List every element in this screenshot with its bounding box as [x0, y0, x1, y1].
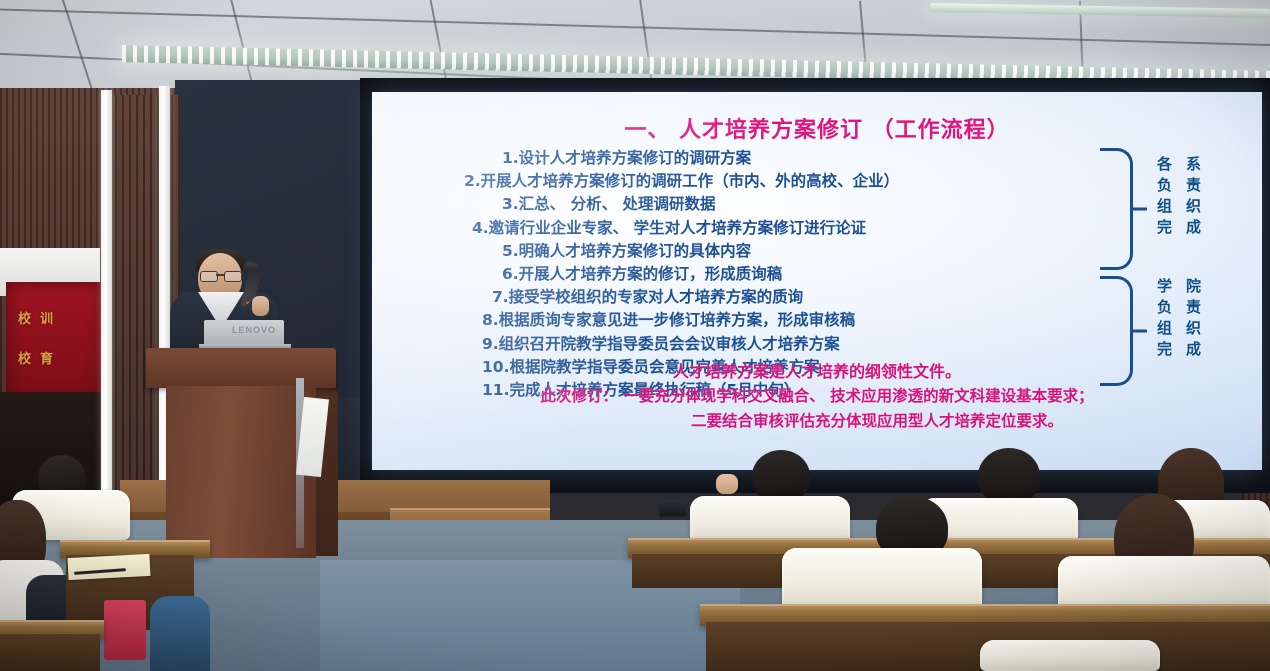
- brace-char: 院: [1179, 276, 1208, 297]
- audience-seat: [690, 496, 850, 544]
- projection-screen: 一、 人才培养方案修订 （工作流程） 1.设计人才培养方案修订的调研方案 2.开…: [372, 92, 1262, 470]
- audience-desk-front: [0, 634, 100, 671]
- notebook: [67, 554, 150, 580]
- brace-label-college: 学 院 负 责 组 织 完 成: [1150, 276, 1208, 360]
- list-item: 5.明确人才培养方案修订的具体内容: [460, 240, 1140, 263]
- brace-char: 织: [1179, 318, 1208, 339]
- list-item: 2.开展人才培养方案修订的调研工作（市内、外的高校、企业）: [460, 170, 1140, 193]
- brace-char: 组: [1150, 196, 1179, 217]
- list-item: 8.根据质询专家意见进一步修订培养方案，形成审核稿: [460, 309, 1140, 332]
- pillar-left: [101, 90, 112, 520]
- brace-char: 学: [1150, 276, 1179, 297]
- footer-line-3: 二要结合审核评估充分体现应用型人才培养定位要求。: [372, 409, 1262, 434]
- brace-char: 责: [1179, 297, 1208, 318]
- list-item: 6.开展人才培养方案的修订，形成质询稿: [460, 263, 1140, 286]
- ceiling-light-strip-secondary: [930, 3, 1270, 18]
- brace-char: 各: [1150, 154, 1179, 175]
- audience-body: [150, 596, 210, 671]
- brace-label-departments: 各 系 负 责 组 织 完 成: [1150, 154, 1208, 238]
- brace-char: 责: [1179, 175, 1208, 196]
- audience-hand: [716, 474, 738, 494]
- brace-char: 负: [1150, 297, 1179, 318]
- banner-char-2: 训: [40, 308, 56, 327]
- red-banner: 校 训 校 育: [6, 282, 104, 400]
- brace-char: 织: [1179, 196, 1208, 217]
- slide-title: 一、 人才培养方案修订 （工作流程）: [372, 112, 1262, 144]
- banner-char-3: 校: [18, 348, 34, 367]
- brace-departments: [1100, 148, 1133, 270]
- audience-head: [752, 450, 810, 502]
- list-item: 3.汇总、 分析、 处理调研数据: [460, 193, 1140, 216]
- brace-char: 成: [1179, 217, 1208, 238]
- podium-top: [146, 348, 336, 388]
- brace-char: 完: [1150, 339, 1179, 360]
- audience-head: [978, 448, 1040, 504]
- brace-char: 负: [1150, 175, 1179, 196]
- footer-line-2: 此次修订： 一要充分体现学科交叉融合、 技术应用渗透的新文科建设基本要求；: [372, 384, 1262, 409]
- chair-red: [104, 600, 146, 660]
- list-item: 1.设计人才培养方案修订的调研方案: [460, 147, 1140, 170]
- footer-line-1: 人才培养方案是人才培养的纲领性文件。: [372, 359, 1262, 384]
- podium-body: [166, 386, 316, 558]
- brace-char: 系: [1179, 154, 1208, 175]
- list-item: 7.接受学校组织的专家对人才培养方案的质询: [460, 286, 1140, 309]
- banner-char-1: 校: [18, 308, 34, 327]
- speaker-hand: [252, 296, 269, 316]
- list-item: 9.组织召开院教学指导委员会会议审核人才培养方案: [460, 333, 1140, 356]
- slide-footer: 人才培养方案是人才培养的纲领性文件。 此次修订： 一要充分体现学科交叉融合、 技…: [372, 359, 1262, 434]
- brace-char: 组: [1150, 318, 1179, 339]
- list-item: 4.邀请行业企业专家、 学生对人才培养方案修订进行论证: [460, 217, 1140, 240]
- brace-char: 完: [1150, 217, 1179, 238]
- audience-seat: [980, 640, 1160, 671]
- screenshot-root: 校 训 校 育 一、 人才培养方案修订 （工作流程） 1.设计人才培养方案修订的…: [0, 0, 1270, 671]
- desk-device: [660, 500, 686, 516]
- audience-seat: [782, 548, 982, 610]
- banner-char-4: 育: [40, 348, 56, 367]
- laptop-brand-label: LENOVO: [232, 325, 276, 335]
- glasses-icon: [200, 271, 240, 280]
- brace-char: 成: [1179, 339, 1208, 360]
